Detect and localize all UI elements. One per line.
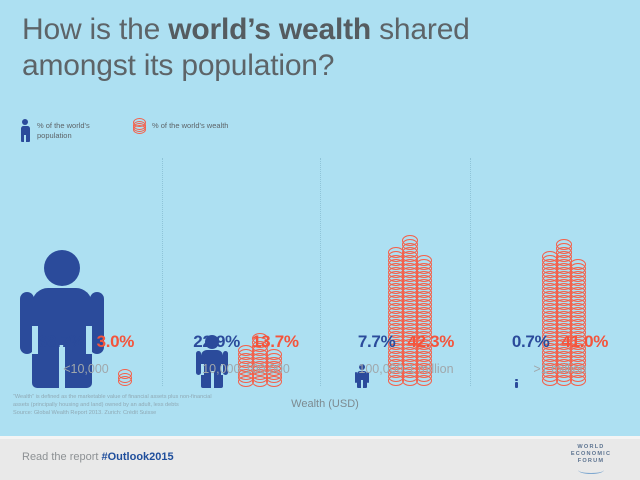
footnote-line-3: Source: Global Wealth Report 2013. Zuric… bbox=[13, 409, 248, 417]
legend-label-population: % of the world's population bbox=[37, 118, 115, 140]
category-label: 100,000-1 million bbox=[326, 362, 486, 376]
legend-item-wealth: % of the world's wealth bbox=[133, 118, 228, 144]
category-label: >1 million bbox=[480, 362, 640, 376]
category-label: 10,000-100,000 bbox=[166, 362, 326, 376]
wef-logo-line-1: WORLD bbox=[577, 444, 604, 450]
wealth-value: 13.7% bbox=[252, 332, 299, 351]
footnote-line-2: assets (principally housing and land) ow… bbox=[13, 401, 248, 409]
x-axis-label: Wealth (USD) bbox=[255, 398, 395, 410]
population-value: 7.7% bbox=[358, 332, 396, 351]
value-labels: 68.7%3.0% bbox=[6, 332, 166, 352]
data-group-over-1million: 0.7%41.0% >1 million bbox=[480, 150, 640, 390]
value-labels: 7.7%42.3% bbox=[326, 332, 486, 352]
wef-logo-line-2: ECONOMIC bbox=[571, 451, 611, 457]
population-value: 22.9% bbox=[193, 332, 240, 351]
person-icon bbox=[18, 118, 32, 144]
value-labels: 0.7%41.0% bbox=[480, 332, 640, 352]
footer-divider bbox=[0, 436, 640, 439]
wef-logo-arc bbox=[578, 466, 604, 474]
infographic-canvas: How is the world’s wealth shared amongst… bbox=[0, 0, 640, 480]
data-group-under-10000: 68.7%3.0% <10,000 bbox=[6, 150, 166, 390]
page-title: How is the world’s wealth shared amongst… bbox=[22, 12, 582, 84]
wealth-value: 41.0% bbox=[561, 332, 608, 351]
title-emphasis: world’s wealth bbox=[168, 13, 371, 46]
category-label: <10,000 bbox=[6, 362, 166, 376]
wealth-value: 42.3% bbox=[407, 332, 454, 351]
population-figure bbox=[514, 379, 519, 388]
legend: % of the world's population % of the wor… bbox=[18, 118, 246, 144]
wealth-value: 3.0% bbox=[97, 332, 135, 351]
title-line-2: amongst its population? bbox=[22, 49, 334, 82]
data-group-10000-100000: 22.9%13.7% 10,000-100,000 bbox=[166, 150, 326, 390]
footnote-line-1: “Wealth” is defined as the marketable va… bbox=[13, 393, 248, 401]
value-labels: 22.9%13.7% bbox=[166, 332, 326, 352]
population-value: 0.7% bbox=[512, 332, 550, 351]
chart-area: 68.7%3.0% <10,000 bbox=[0, 150, 640, 390]
coin-stack-icon bbox=[133, 118, 147, 144]
title-part-1: How is the bbox=[22, 13, 168, 46]
legend-item-population: % of the world's population bbox=[18, 118, 115, 144]
title-part-3: shared bbox=[371, 13, 470, 46]
footer-read-label: Read the report bbox=[22, 451, 102, 463]
legend-label-wealth: % of the world's wealth bbox=[152, 118, 228, 131]
wef-logo: WORLD ECONOMIC FORUM bbox=[560, 444, 622, 474]
read-the-report: Read the report #Outlook2015 bbox=[22, 451, 174, 463]
data-group-100000-1million: 7.7%42.3% 100,000-1 million bbox=[326, 150, 486, 390]
footnote: “Wealth” is defined as the marketable va… bbox=[13, 393, 248, 418]
footer-hashtag[interactable]: #Outlook2015 bbox=[102, 451, 174, 463]
wef-logo-line-3: FORUM bbox=[578, 458, 605, 464]
footer-bar: Read the report #Outlook2015 WORLD ECONO… bbox=[0, 436, 640, 480]
population-value: 68.7% bbox=[38, 332, 85, 351]
